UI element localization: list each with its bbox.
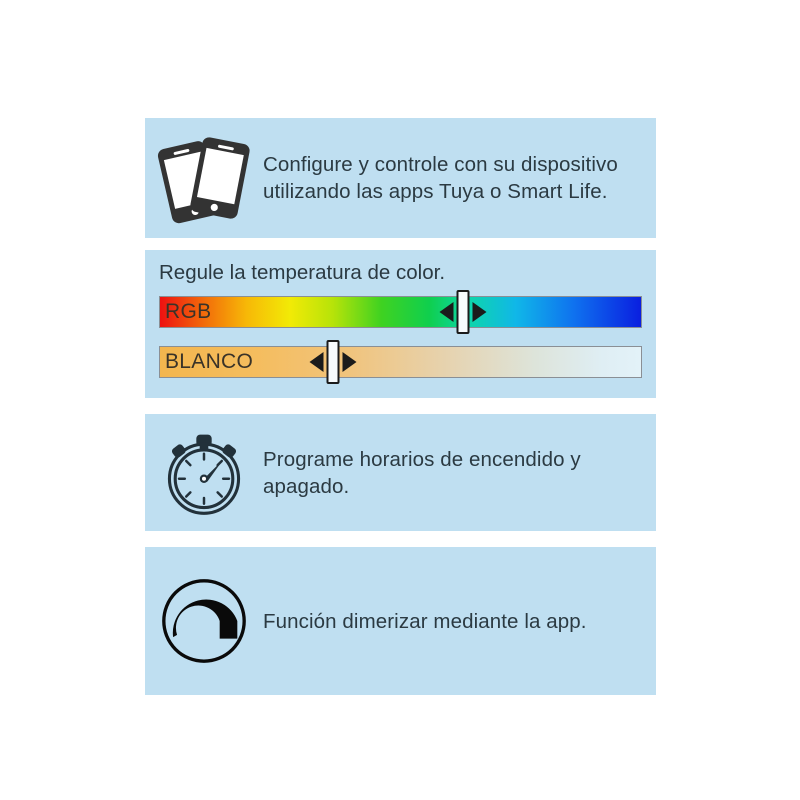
- feature-text-apps: Configure y controle con su dispositivo …: [263, 151, 648, 205]
- feature-list-page: Configure y controle con su dispositivo …: [0, 0, 800, 800]
- feature-panel-dimmer: Función dimerizar mediante la app.: [145, 547, 656, 695]
- blanco-slider-label: BLANCO: [165, 346, 253, 378]
- rgb-slider[interactable]: RGB: [159, 296, 642, 328]
- arrow-left-icon[interactable]: [440, 302, 454, 322]
- blanco-slider-thumb[interactable]: [326, 340, 339, 384]
- blanco-slider[interactable]: BLANCO: [159, 346, 642, 378]
- feature-text-cell-dimmer: Función dimerizar mediante la app.: [263, 608, 656, 635]
- rgb-slider-handle-group[interactable]: [440, 290, 487, 334]
- feature-panel-timer: Programe horarios de encendido y apagado…: [145, 414, 656, 531]
- feature-text-cell-timer: Programe horarios de encendido y apagado…: [263, 446, 656, 500]
- dimmer-dial-icon: [145, 547, 263, 695]
- feature-text-dimmer: Función dimerizar mediante la app.: [263, 608, 648, 635]
- feature-text-timer: Programe horarios de encendido y apagado…: [263, 446, 648, 500]
- color-temperature-panel: Regule la temperatura de color. RGB BLAN…: [145, 250, 656, 398]
- color-panel-heading: Regule la temperatura de color.: [159, 260, 642, 286]
- arrow-right-icon[interactable]: [473, 302, 487, 322]
- rgb-slider-label: RGB: [165, 296, 211, 328]
- arrow-left-icon[interactable]: [309, 352, 323, 372]
- rgb-slider-thumb[interactable]: [457, 290, 470, 334]
- blanco-slider-handle-group[interactable]: [309, 340, 356, 384]
- arrow-right-icon[interactable]: [342, 352, 356, 372]
- stopwatch-icon: [145, 414, 263, 531]
- feature-panel-apps: Configure y controle con su dispositivo …: [145, 118, 656, 238]
- two-phones-icon: [145, 118, 263, 238]
- feature-text-cell-apps: Configure y controle con su dispositivo …: [263, 151, 656, 205]
- rgb-gradient-track[interactable]: [159, 296, 642, 328]
